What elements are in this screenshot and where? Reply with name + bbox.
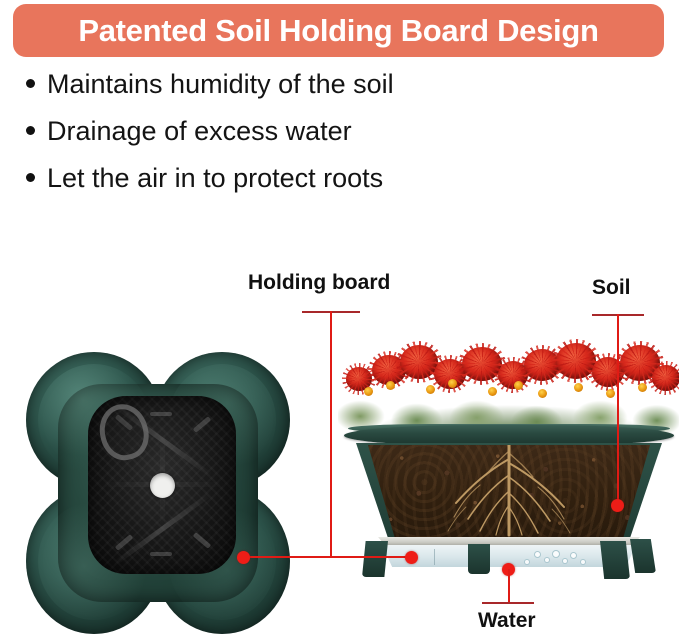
leader-dot-holding-board-right [405, 551, 418, 564]
flower-bud [638, 383, 647, 392]
water-bubble [570, 552, 577, 559]
flower-bud [426, 385, 435, 394]
leader-line-water-vertical [508, 569, 510, 604]
callout-label-holding-board: Holding board [248, 272, 390, 293]
callout-label-soil: Soil [592, 277, 631, 298]
flower-bud [488, 387, 497, 396]
planter-crosssection-image [338, 325, 679, 581]
flower-bud [386, 381, 395, 390]
bullet-text: Maintains humidity of the soil [47, 71, 394, 98]
board-vent-slot [193, 416, 212, 433]
leader-dot-soil [611, 499, 624, 512]
bullet-dot-icon [26, 79, 35, 88]
page-title: Patented Soil Holding Board Design [78, 15, 598, 46]
flower-bud [514, 381, 523, 390]
pot-foot [600, 541, 630, 579]
board-clip [94, 399, 154, 465]
flower-bud [448, 379, 457, 388]
water-bubble [580, 559, 586, 565]
board-center-hole [150, 473, 175, 498]
bullet-text: Drainage of excess water [47, 118, 352, 145]
list-item: Drainage of excess water [26, 118, 546, 165]
reservoir-divider [434, 549, 435, 565]
flower [652, 365, 679, 391]
water-bubble [524, 559, 530, 565]
pot-foot [362, 541, 388, 577]
callout-label-water: Water [478, 610, 536, 631]
chrysanthemum-flowers [338, 325, 679, 435]
water-bubble [562, 558, 568, 564]
holding-board-insert [88, 396, 236, 574]
header-banner: Patented Soil Holding Board Design [13, 4, 664, 57]
leader-line-holding-board-horizontal [244, 556, 414, 558]
board-vent-slot [150, 412, 172, 416]
leader-line-soil-vertical [617, 314, 619, 506]
flower-bud [574, 383, 583, 392]
bullet-text: Let the air in to protect roots [47, 165, 383, 192]
bullet-dot-icon [26, 173, 35, 182]
board-vent-slot [150, 552, 172, 556]
product-illustration: Holding board Soil Water [0, 255, 679, 638]
board-vent-slot [193, 532, 212, 549]
list-item: Let the air in to protect roots [26, 165, 546, 212]
flower-bud [538, 389, 547, 398]
pot-foot [630, 539, 656, 573]
leader-dot-holding-board-left [237, 551, 250, 564]
soil-mass [368, 445, 650, 538]
list-item: Maintains humidity of the soil [26, 71, 546, 118]
leader-tick-water [482, 602, 534, 604]
flower-bud [606, 389, 615, 398]
flower-bud [364, 387, 373, 396]
pot-foot [468, 544, 490, 574]
water-bubble [534, 551, 541, 558]
water-bubble [552, 550, 560, 558]
bullet-dot-icon [26, 126, 35, 135]
pot-rim [344, 425, 674, 446]
infographic-page: Patented Soil Holding Board Design Maint… [0, 0, 679, 638]
feature-bullet-list: Maintains humidity of the soil Drainage … [26, 71, 546, 212]
leader-line-holding-board-vertical [330, 311, 332, 557]
water-bubble [544, 557, 550, 563]
clover-planter-topview-image [22, 350, 294, 638]
